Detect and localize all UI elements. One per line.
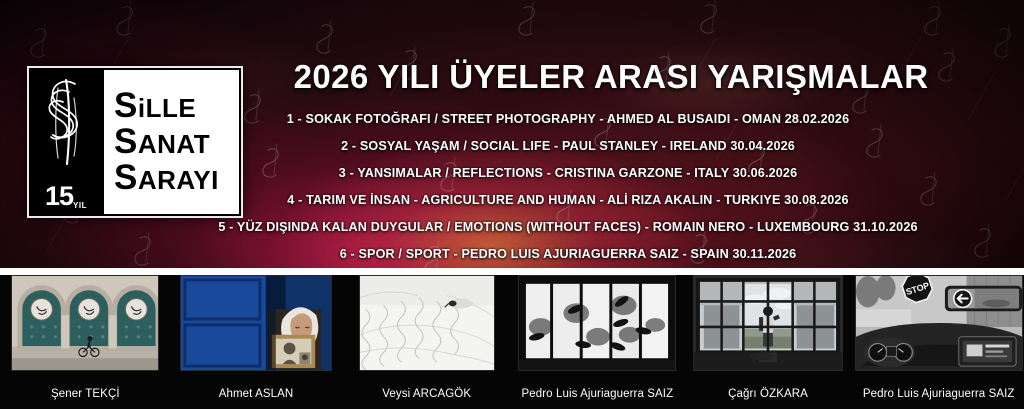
rear-view-mirror [945,286,1022,311]
page-title: 2026 YILI ÜYELER ARASI YARIŞMALAR [255,60,967,95]
left-arrow-sign [954,290,972,308]
competition-entry-1: 1 - SOKAK FOTOĞRAFI / STREET PHOTOGRAPHY… [112,106,1024,133]
logo-monogram-panel: 15YIL [29,68,103,216]
thumbnail-row: STOP [0,275,1024,378]
competition-entry-3: 3 - YANSIMALAR / REFLECTIONS - CRISTINA … [112,160,1024,187]
caption-6: Pedro Luis Ajuriaguerra SAIZ [853,388,1024,400]
gallery-item-1 [0,275,171,378]
instrument-cluster [864,338,915,367]
thumbnail-snow-tracks[interactable] [359,275,495,371]
thumbnail-frosted-glass-panels[interactable] [518,275,676,371]
anniversary-badge: 15YIL [29,183,103,210]
infotainment-screen [958,337,1015,366]
anniversary-number: 15 [45,181,73,211]
gallery-item-2 [171,275,342,378]
thumbnail-car-dashboard-stop[interactable]: STOP [855,275,1023,371]
calligraphy-monogram-icon [29,68,103,180]
caption-row: Şener TEKÇİ Ahmet ASLAN Veysi ARCAGÖK Pe… [0,378,1024,409]
gallery-item-4 [512,275,683,378]
caption-1: Şener TEKÇİ [0,388,171,400]
caption-2: Ahmet ASLAN [171,388,342,400]
competition-poster: 15YIL SiLLE SANAT SARAYI 2026 YILI ÜYELE… [0,0,1024,409]
caption-3: Veysi ARCAGÖK [341,388,512,400]
thumbnail-mosque-arches[interactable] [11,275,159,371]
framed-portrait [272,335,315,368]
competition-entry-2: 2 - SOSYAL YAŞAM / SOCIAL LIFE - PAUL ST… [112,133,1024,160]
caption-4: Pedro Luis Ajuriaguerra SAIZ [512,388,683,400]
gallery-item-5 [683,275,854,378]
strip-divider [0,268,1024,275]
thumbnail-woman-blue-door[interactable] [180,275,332,371]
competition-entry-5: 5 - YÜZ DIŞINDA KALAN DUYGULAR / EMOTION… [112,214,1024,241]
anniversary-label: YIL [73,201,87,210]
competition-entry-4: 4 - TARIM VE İNSAN - AGRICULTURE AND HUM… [112,187,1024,214]
competition-entry-6: 6 - SPOR / SPORT - PEDRO LUIS AJURIAGUER… [112,241,1024,268]
competition-list: 1 - SOKAK FOTOĞRAFI / STREET PHOTOGRAPHY… [200,106,1024,268]
gallery-strip: STOP [0,268,1024,409]
gallery-item-3 [341,275,512,378]
thumbnail-child-glass-wall[interactable] [693,275,843,371]
gallery-item-6: STOP [853,275,1024,378]
caption-5: Çağrı ÖZKARA [683,388,854,400]
